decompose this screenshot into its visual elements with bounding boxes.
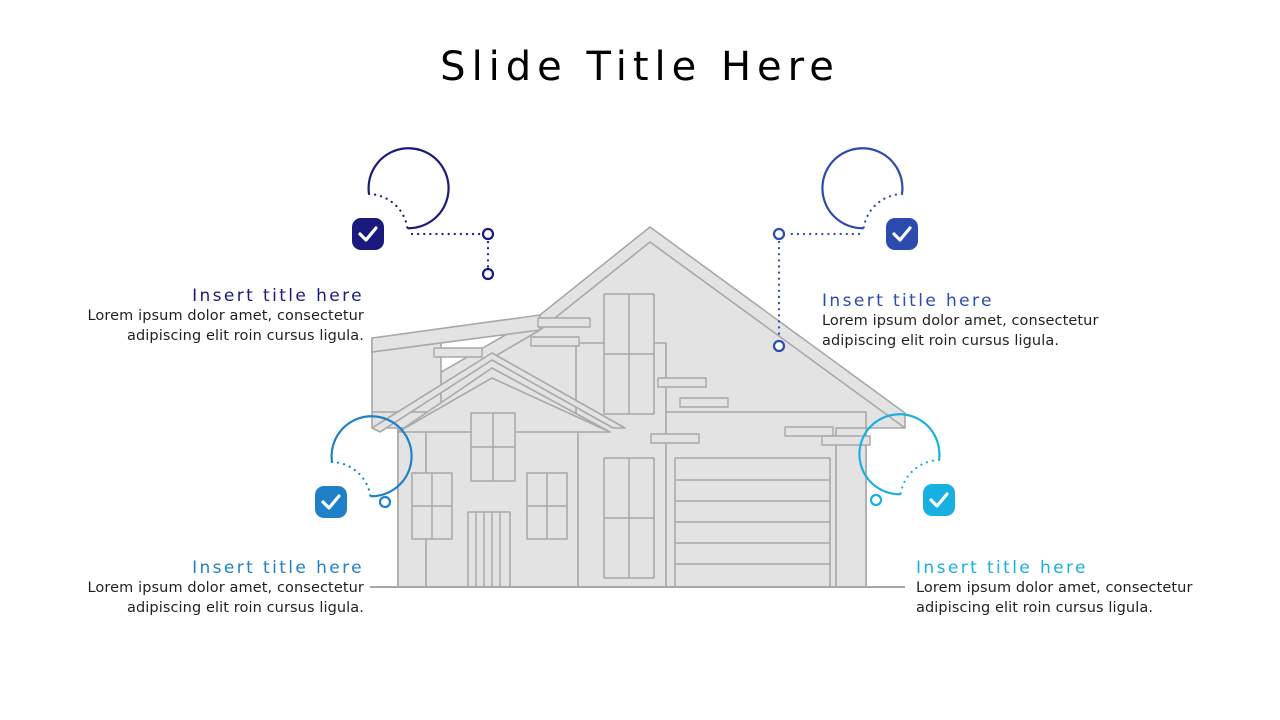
check-badge-icon-bottom-right bbox=[923, 484, 955, 516]
connector-node-bottom-left bbox=[380, 497, 390, 507]
callout-body-bottom-right: Lorem ipsum dolor amet, consectetur adip… bbox=[916, 579, 1236, 618]
connector-node-bottom-right bbox=[871, 495, 881, 505]
slide-canvas: Slide Title Here bbox=[0, 0, 1280, 720]
ring-solid-bottom-left bbox=[332, 416, 412, 496]
callout-title-bottom-right: Insert title here bbox=[916, 558, 1236, 579]
callout-marker-bottom-right[interactable] bbox=[859, 414, 955, 516]
check-badge-icon-bottom-left bbox=[315, 486, 347, 518]
check-badge-icon-top-left bbox=[352, 218, 384, 250]
callout-body-top-left: Lorem ipsum dolor amet, consectetur adip… bbox=[54, 307, 364, 346]
connector-node-b-top-right bbox=[774, 341, 784, 351]
callout-text-top-left: Insert title here Lorem ipsum dolor amet… bbox=[54, 286, 364, 346]
connector-node-b-top-left bbox=[483, 269, 493, 279]
callout-text-top-right: Insert title here Lorem ipsum dolor amet… bbox=[822, 291, 1142, 351]
callout-text-bottom-left: Insert title here Lorem ipsum dolor amet… bbox=[54, 558, 364, 618]
callout-marker-top-left[interactable] bbox=[352, 148, 493, 279]
ring-solid-bottom-right bbox=[859, 414, 939, 494]
callout-text-bottom-right: Insert title here Lorem ipsum dolor amet… bbox=[916, 558, 1236, 618]
callout-body-bottom-left: Lorem ipsum dolor amet, consectetur adip… bbox=[54, 579, 364, 618]
check-badge-icon-top-right bbox=[886, 218, 918, 250]
callout-marker-bottom-left[interactable] bbox=[315, 416, 412, 518]
callout-body-top-right: Lorem ipsum dolor amet, consectetur adip… bbox=[822, 312, 1142, 351]
ring-solid-top-right bbox=[822, 148, 902, 228]
callout-title-top-left: Insert title here bbox=[54, 286, 364, 307]
ring-solid-top-left bbox=[369, 148, 449, 228]
callout-title-top-right: Insert title here bbox=[822, 291, 1142, 312]
connector-node-a-top-right bbox=[774, 229, 784, 239]
callout-title-bottom-left: Insert title here bbox=[54, 558, 364, 579]
connector-node-a-top-left bbox=[483, 229, 493, 239]
